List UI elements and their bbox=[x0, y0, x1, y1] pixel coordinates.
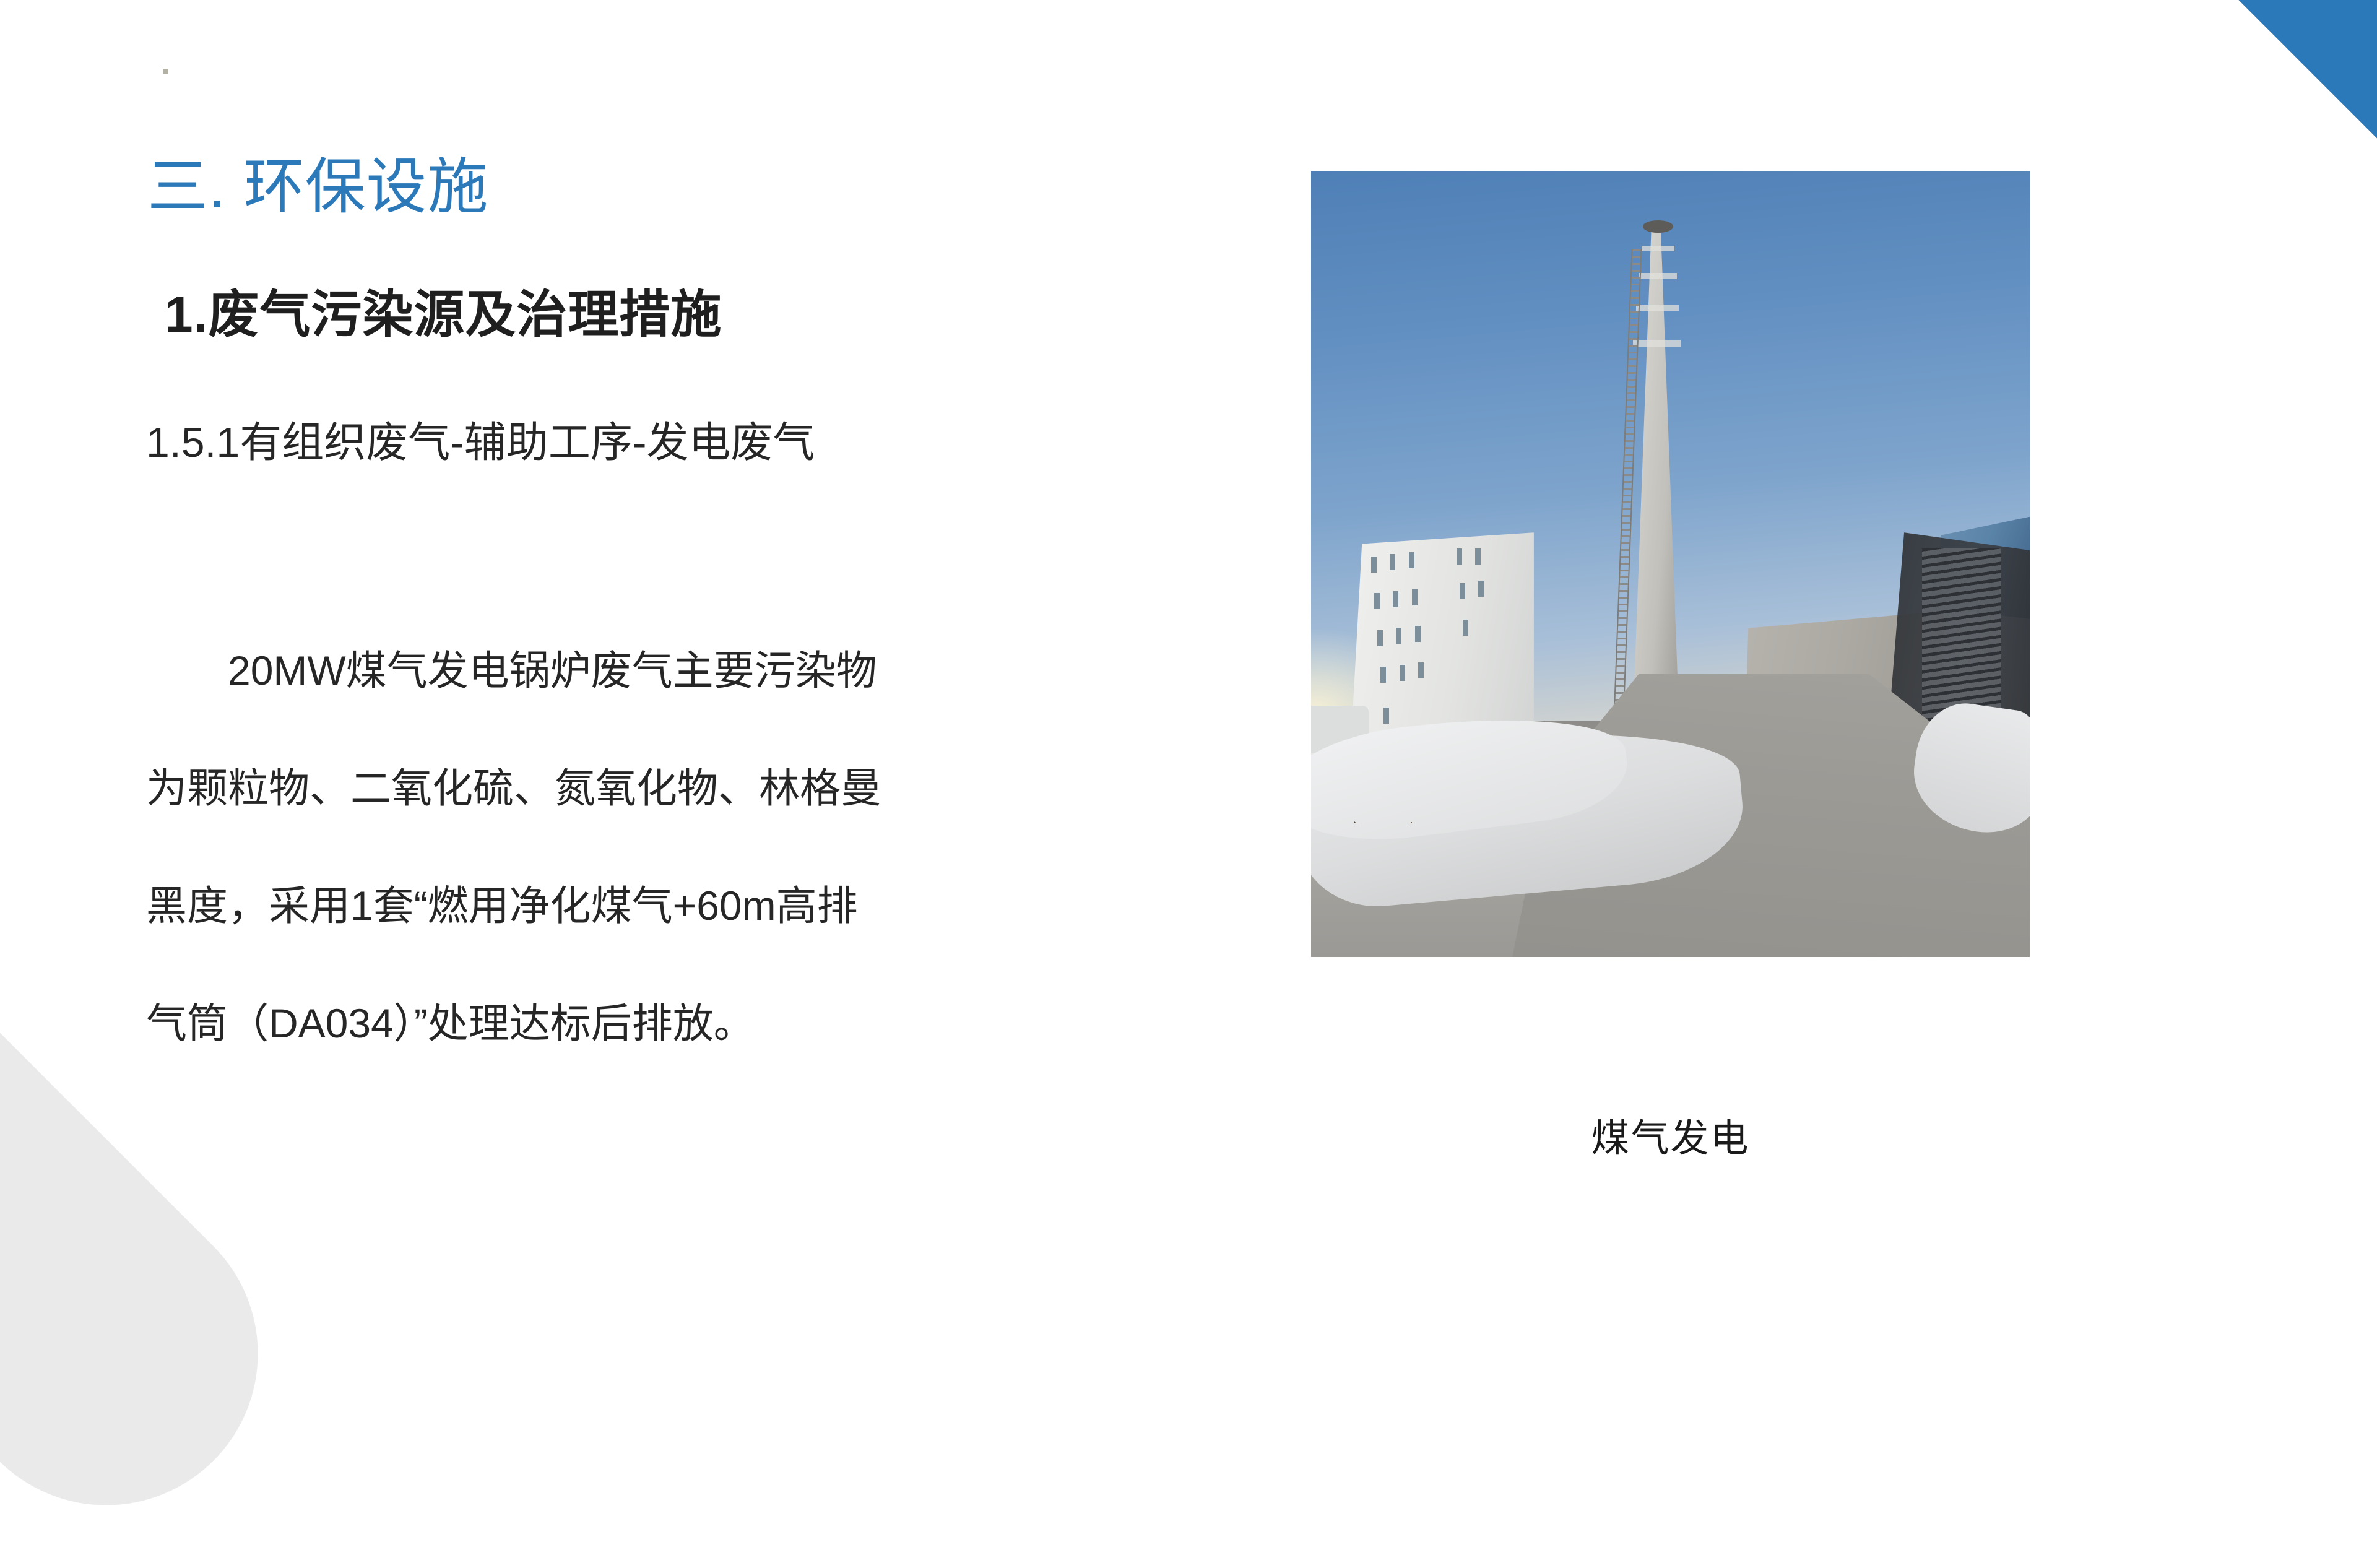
slide-text-column: 三. 环保设施 1.废气污染源及治理措施 1.5.1有组织废气-辅助工序-发电废… bbox=[0, 0, 1238, 1337]
photo-stairway bbox=[1922, 548, 2001, 721]
photo-stack-band bbox=[1642, 246, 1674, 251]
sub-heading: 1.5.1有组织废气-辅助工序-发电废气 bbox=[146, 420, 815, 466]
decorative-blue-capsule bbox=[2062, 0, 2377, 297]
photo-stack-band bbox=[1633, 340, 1681, 347]
photo-caption: 煤气发电 bbox=[1311, 1107, 2030, 1163]
body-line: 气筒（DA034）”处理达标后排放。 bbox=[146, 1003, 1161, 1120]
photo-stack-band bbox=[1636, 305, 1679, 311]
body-paragraph: 20MW煤气发电锅炉废气主要污染物 为颗粒物、二氧化硫、氮氧化物、林格曼 黑度，… bbox=[146, 650, 1161, 1120]
page-title: 三. 环保设施 bbox=[147, 154, 488, 220]
body-line: 为颗粒物、二氧化硫、氮氧化物、林格曼 bbox=[146, 768, 1161, 885]
photo-bare-bush bbox=[1354, 745, 1412, 823]
photo-content bbox=[1311, 171, 2030, 957]
section-heading: 1.废气污染源及治理措施 bbox=[165, 287, 722, 343]
body-line: 黑度，采用1套“燃用净化煤气+60m高排 bbox=[146, 885, 1161, 1003]
smokestack-photo bbox=[1311, 171, 2030, 957]
photo-stack-band bbox=[1639, 273, 1677, 279]
body-line: 20MW煤气发电锅炉废气主要污染物 bbox=[146, 650, 1161, 768]
